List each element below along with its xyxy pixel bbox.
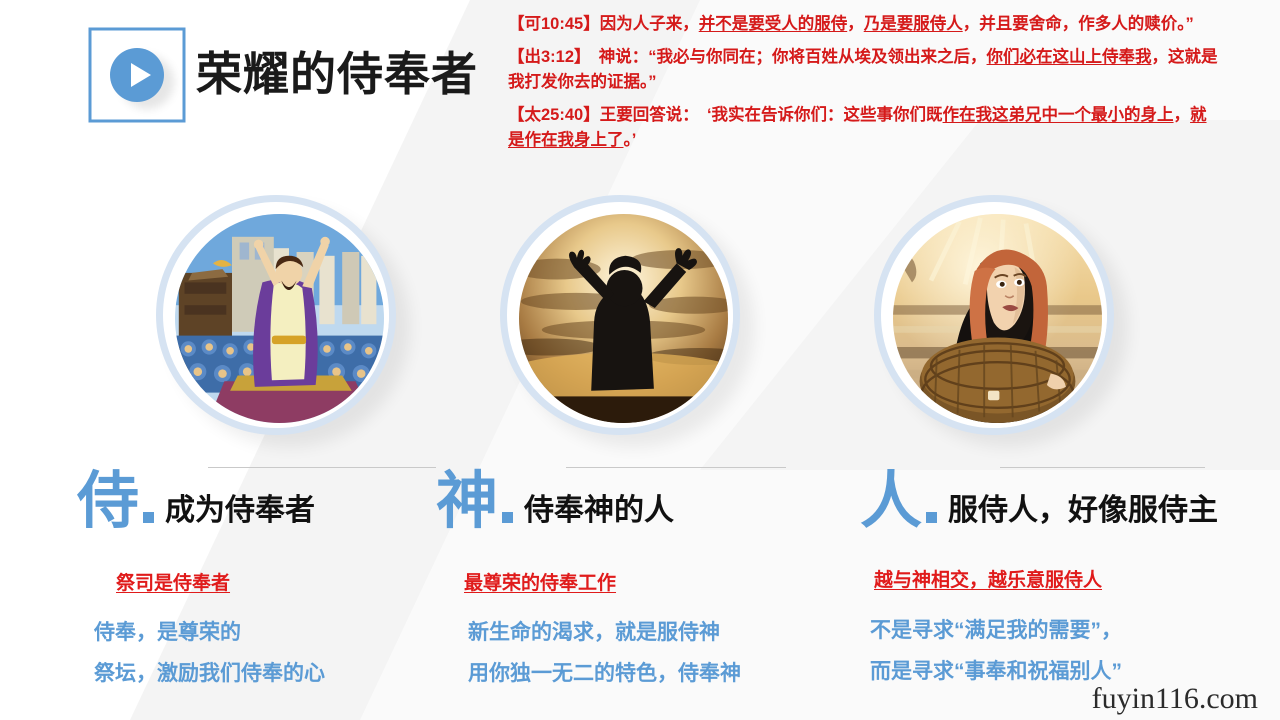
scripture-block: 【可10:45】因为人子来，并不是要受人的服侍，乃是要服侍人，并且要舍命，作多人…: [508, 12, 1220, 161]
column-2-body: 新生命的渴求，就是服侍神 用你独一无二的特色，侍奉神: [468, 613, 741, 695]
column-2-line-1: 新生命的渴求，就是服侍神: [468, 613, 741, 654]
column-2-big-character: 神: [436, 473, 498, 532]
scripture-reference: 【太25:40】: [508, 106, 600, 124]
column-1-heading: 侍 成为侍奉者: [77, 473, 315, 532]
column-2-heading: 神 侍奉神的人: [436, 473, 674, 532]
scripture-text: 王要回答说： ‘我实在告诉你们：这些事你们既: [600, 106, 943, 124]
photo-circle-2: [500, 195, 740, 435]
column-3-heading: 人 服侍人，好像服侍主: [860, 473, 1218, 532]
scripture-text: 神说：“我必与你同在；你将百姓从埃及领出来之后，: [582, 48, 986, 66]
photo-row: [0, 195, 1280, 460]
content-columns: 侍 成为侍奉者 祭司是侍奉者 侍奉，是尊荣的 祭坛，激励我们侍奉的心 神 侍奉神…: [0, 455, 1280, 720]
scripture-verse-3: 【太25:40】王要回答说： ‘我实在告诉你们：这些事你们既作在我这弟兄中一个最…: [508, 103, 1220, 152]
presentation-slide: 荣耀的侍奉者 【可10:45】因为人子来，并不是要受人的服侍，乃是要服侍人，并且…: [0, 0, 1280, 720]
play-button-icon[interactable]: [110, 48, 164, 102]
logo-frame: [88, 27, 186, 123]
column-1-heading-text: 成为侍奉者: [165, 496, 315, 532]
scripture-emphasis: 作在我这弟兄中一个最小的身上: [943, 106, 1174, 124]
photo-image-hands-raised-sunset: [514, 209, 733, 428]
scripture-reference: 【可10:45】: [508, 15, 600, 33]
scripture-reference: 【出3:12】: [508, 48, 582, 66]
scripture-text: 。’: [624, 131, 637, 149]
column-1-body: 侍奉，是尊荣的 祭坛，激励我们侍奉的心: [94, 613, 325, 695]
column-3-subtitle: 越与神相交，越乐意服侍人: [874, 565, 1102, 592]
column-divider: [208, 467, 436, 468]
scripture-text: ，并且要舍命，作多人的赎价。”: [963, 15, 1194, 33]
column-3-heading-text: 服侍人，好像服侍主: [948, 496, 1218, 532]
scripture-emphasis: 你们必在这山上侍奉我: [987, 48, 1152, 66]
play-triangle-icon: [131, 63, 151, 87]
scripture-text: ，: [847, 15, 864, 33]
scripture-text: 因为人子来，: [600, 15, 699, 33]
scripture-emphasis: 乃是要服侍人: [864, 15, 963, 33]
column-1-subtitle: 祭司是侍奉者: [116, 568, 230, 595]
page-title: 荣耀的侍奉者: [196, 38, 478, 104]
column-3-line-1: 不是寻求“满足我的需要”，: [870, 611, 1122, 652]
column-divider: [1000, 467, 1205, 468]
scripture-emphasis: 并不是要受人的服侍: [699, 15, 848, 33]
column-1-big-character: 侍: [77, 473, 139, 532]
column-2-subtitle: 最尊荣的侍奉工作: [464, 568, 616, 595]
scripture-verse-2: 【出3:12】 神说：“我必与你同在；你将百姓从埃及领出来之后，你们必在这山上侍…: [508, 45, 1220, 94]
square-bullet-icon: [143, 512, 154, 523]
column-3-body: 不是寻求“满足我的需要”， 而是寻求“事奉和祝福别人”: [870, 611, 1122, 693]
photo-circle-1: [156, 195, 396, 435]
photo-image-woman-with-basket: [888, 209, 1107, 428]
scripture-text: ，: [1174, 106, 1191, 124]
column-divider: [566, 467, 786, 468]
column-3-line-2: 而是寻求“事奉和祝福别人”: [870, 652, 1122, 693]
photo-image-solomon-praying: [170, 209, 389, 428]
photo-circle-3: [874, 195, 1114, 435]
column-1-line-2: 祭坛，激励我们侍奉的心: [94, 654, 325, 695]
square-bullet-icon: [926, 512, 937, 523]
column-2-heading-text: 侍奉神的人: [524, 496, 674, 532]
column-3-big-character: 人: [860, 473, 922, 532]
scripture-verse-1: 【可10:45】因为人子来，并不是要受人的服侍，乃是要服侍人，并且要舍命，作多人…: [508, 12, 1220, 36]
column-1-line-1: 侍奉，是尊荣的: [94, 613, 325, 654]
slide-header: 荣耀的侍奉者 【可10:45】因为人子来，并不是要受人的服侍，乃是要服侍人，并且…: [0, 0, 1280, 195]
site-watermark: fuyin116.com: [1092, 682, 1258, 716]
square-bullet-icon: [502, 512, 513, 523]
column-2-line-2: 用你独一无二的特色，侍奉神: [468, 654, 741, 695]
